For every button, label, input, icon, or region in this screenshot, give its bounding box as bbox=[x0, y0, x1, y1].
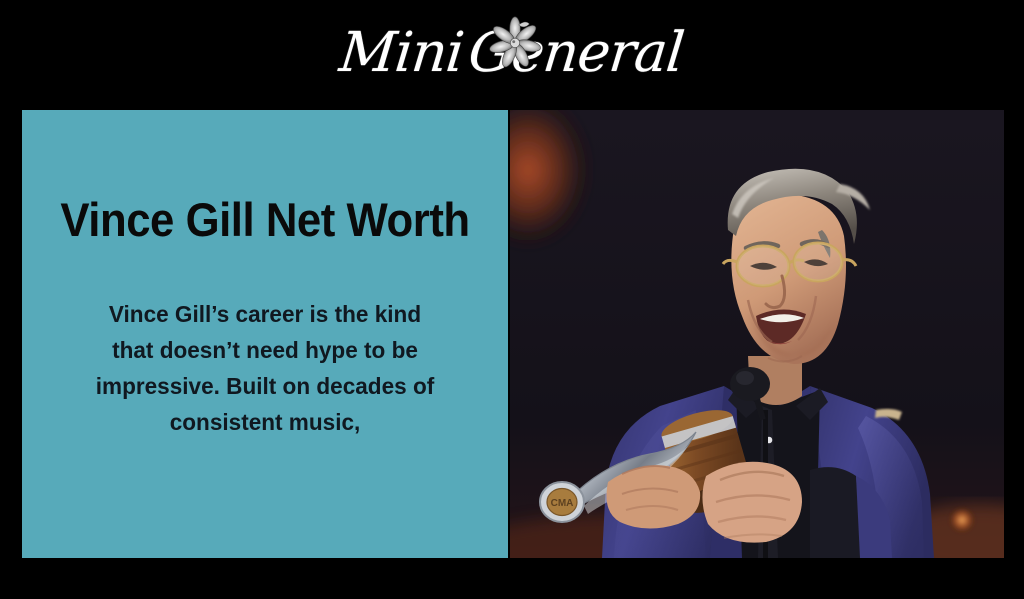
brand-lockup[interactable]: Mini General bbox=[302, 7, 722, 97]
brand-name-part-two: General bbox=[467, 25, 687, 80]
panel-body-text: Vince Gill’s career is the kind that doe… bbox=[86, 296, 443, 440]
info-panel: Vince Gill Net Worth Vince Gill’s career… bbox=[22, 110, 508, 558]
brand-name-part-one: Mini bbox=[338, 25, 467, 80]
page-title: Vince Gill Net Worth bbox=[60, 196, 469, 244]
subject-photo-illustration: CMA bbox=[510, 110, 1004, 558]
poster-canvas: Mini General bbox=[0, 0, 1024, 599]
subject-photo: CMA bbox=[510, 110, 1004, 558]
brand-header: Mini General bbox=[0, 0, 1024, 104]
